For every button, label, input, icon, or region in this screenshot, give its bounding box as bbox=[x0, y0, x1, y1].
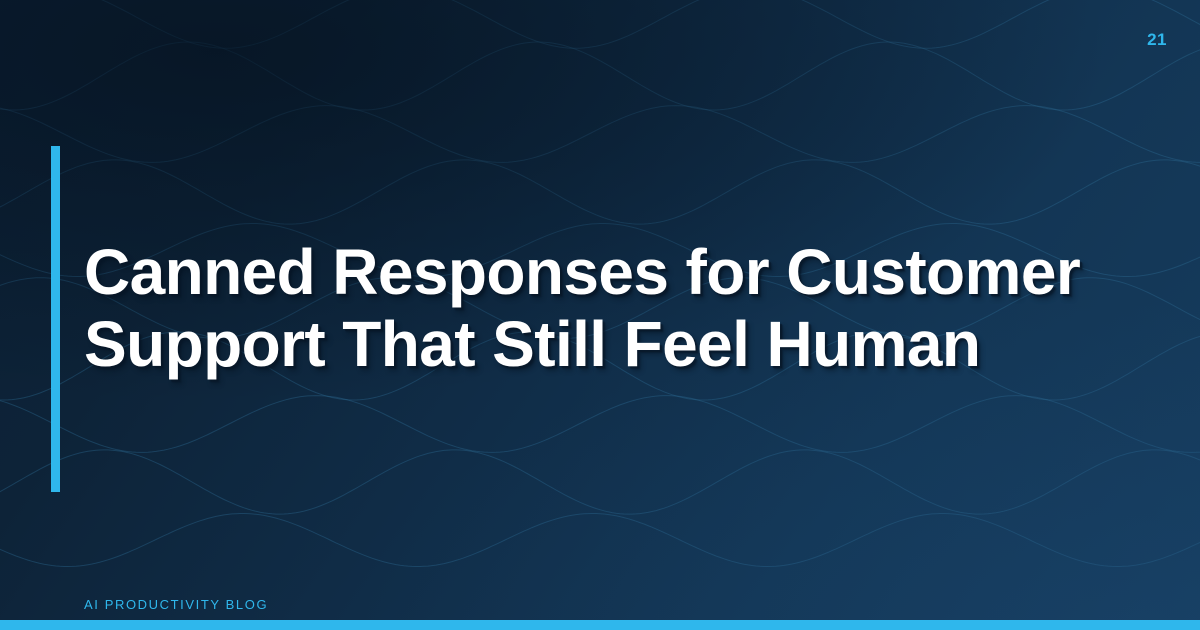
title-line-2: Support That Still Feel Human bbox=[84, 308, 1124, 380]
slide-canvas: 21 Canned Responses for Customer Support… bbox=[0, 0, 1200, 630]
page-title: Canned Responses for Customer Support Th… bbox=[84, 236, 1124, 380]
footer-brand-label: AI PRODUCTIVITY BLOG bbox=[84, 598, 268, 611]
title-line-1: Canned Responses for Customer bbox=[84, 236, 1124, 308]
page-number: 21 bbox=[1147, 31, 1167, 48]
bottom-accent-bar bbox=[0, 620, 1200, 630]
left-accent-bar bbox=[51, 146, 60, 492]
